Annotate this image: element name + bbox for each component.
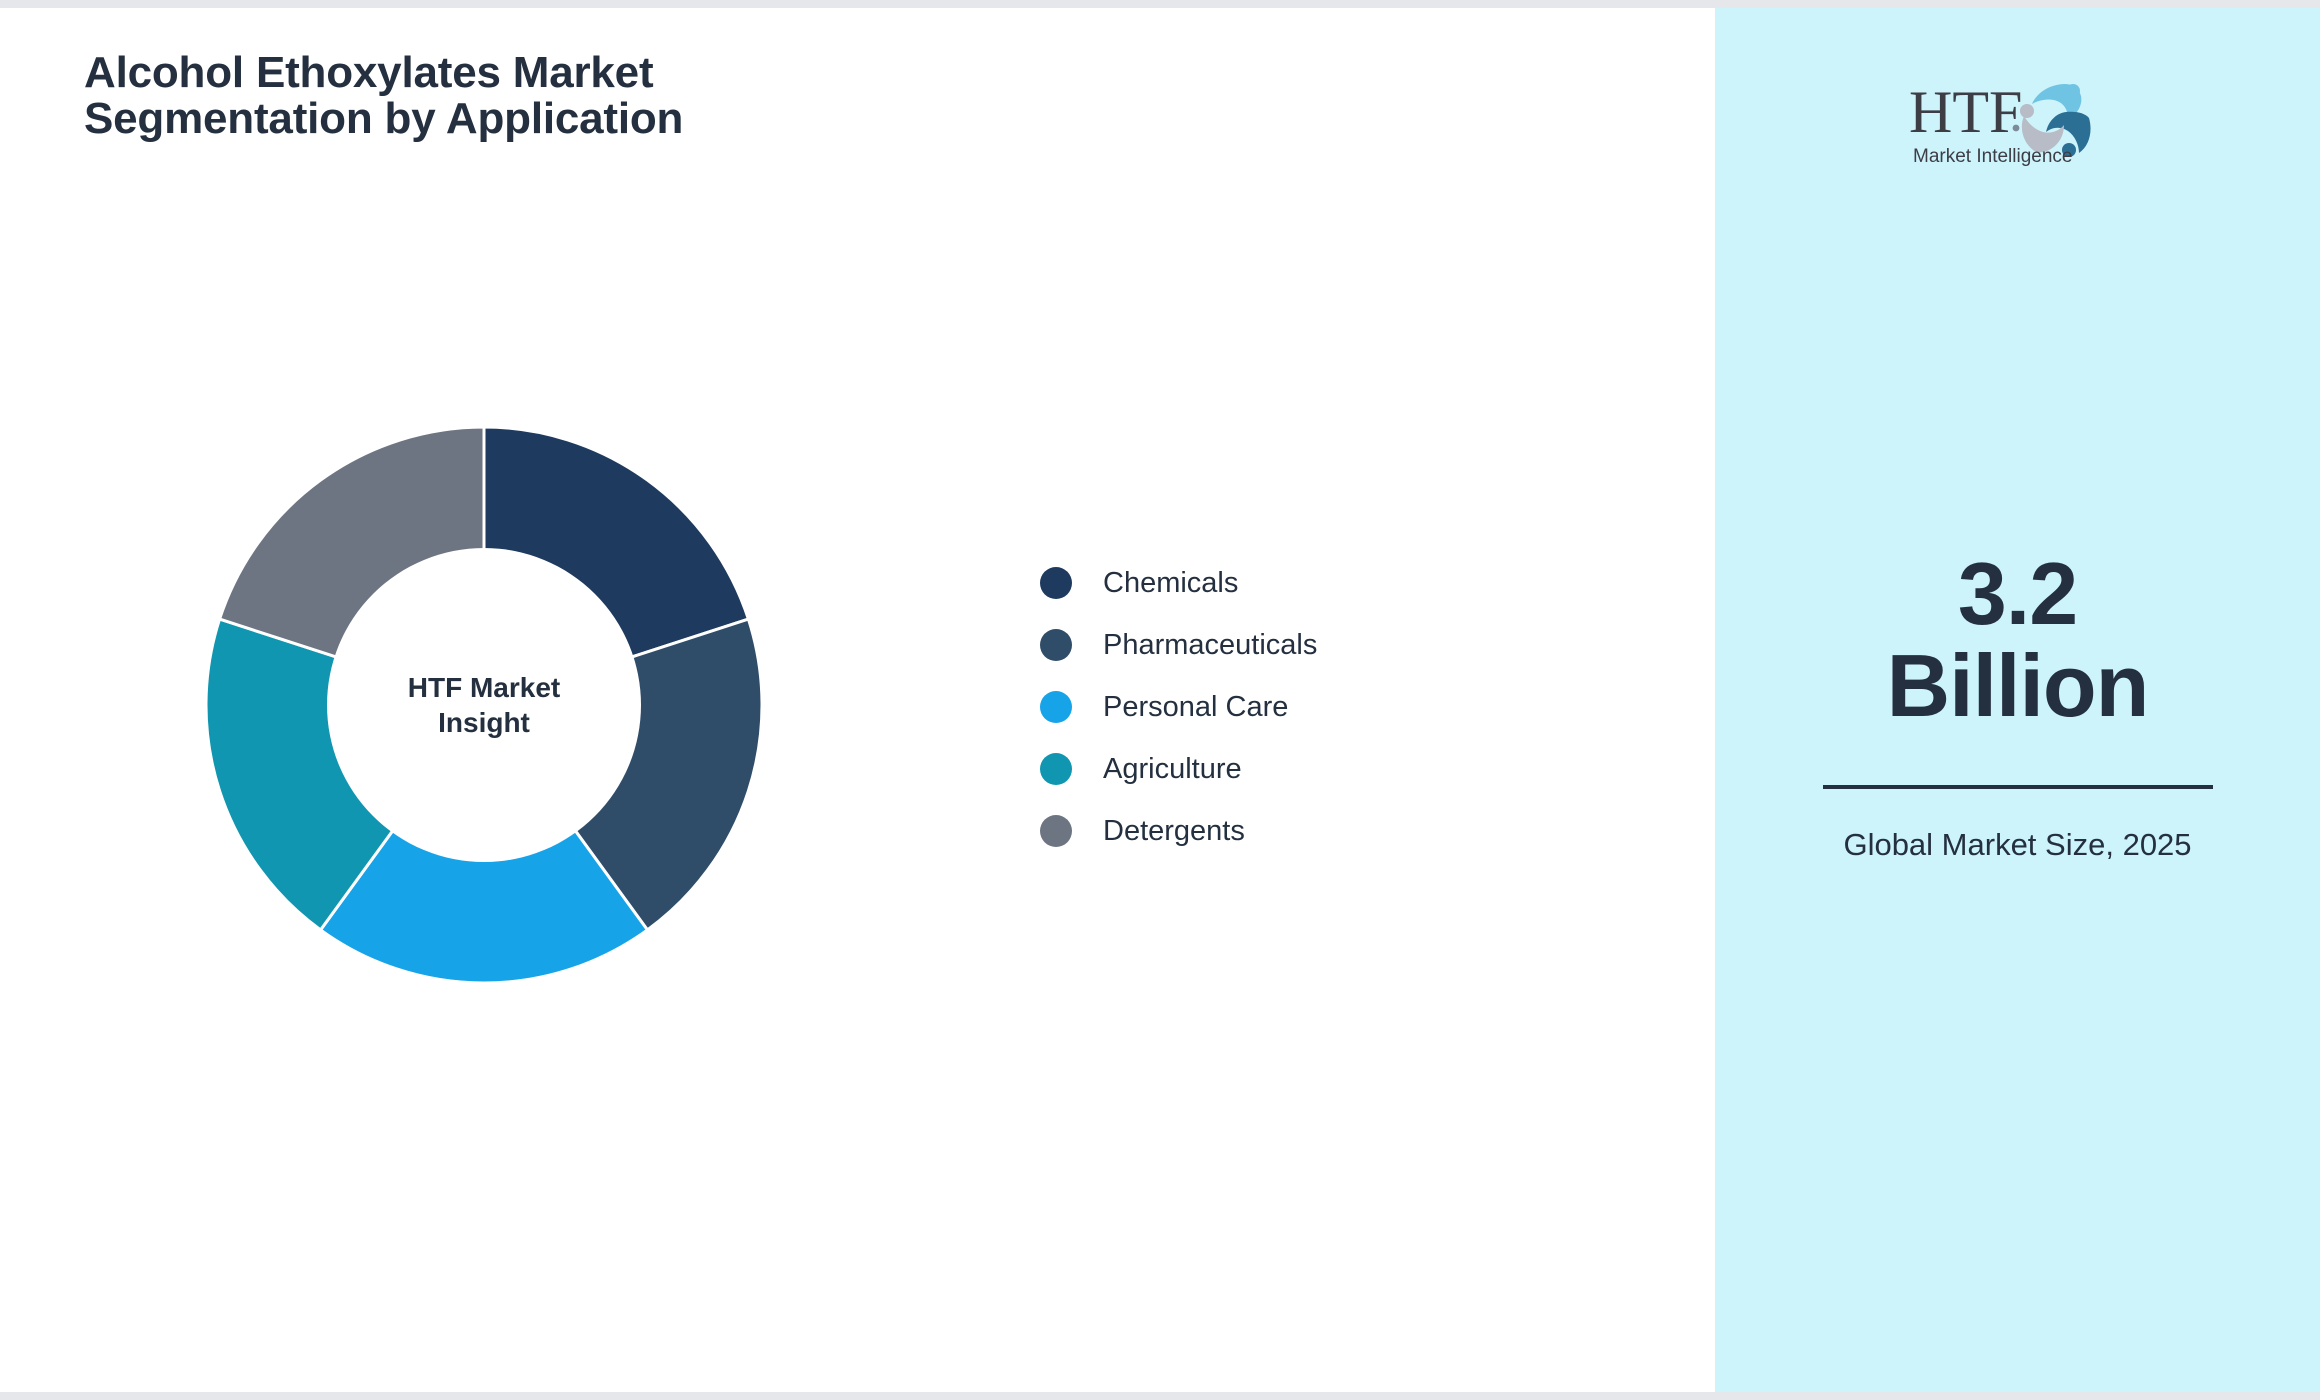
legend-item-label: Chemicals	[1103, 567, 1238, 600]
donut-chart: HTF Market Insight	[206, 427, 762, 983]
stat-value: 3.2 Billion	[1798, 548, 2238, 733]
stat-caption-line-2: 2025	[2123, 827, 2192, 862]
page-title-line-2: Segmentation by Application	[84, 96, 904, 142]
legend-item-label: Personal Care	[1103, 691, 1288, 724]
legend-item-agriculture[interactable]: Agriculture	[1040, 747, 1317, 791]
market-size-stat: 3.2 Billion Global Market Size, 2025	[1798, 548, 2238, 864]
htf-market-intelligence-logo[interactable]: HTF Market Intelligence	[1903, 70, 2133, 170]
infographic-card: Alcohol Ethoxylates Market Segmentation …	[0, 8, 2320, 1392]
legend-swatch-icon	[1040, 753, 1072, 785]
legend-swatch-icon	[1040, 629, 1072, 661]
stat-value-line-1: 3.2	[1798, 548, 2238, 640]
page-title: Alcohol Ethoxylates Market Segmentation …	[84, 50, 904, 142]
legend-item-label: Detergents	[1103, 815, 1245, 848]
stat-caption: Global Market Size, 2025	[1798, 825, 2238, 865]
stat-value-line-2: Billion	[1798, 640, 2238, 732]
chart-legend: Chemicals Pharmaceuticals Personal Care …	[1040, 561, 1317, 853]
legend-item-pharmaceuticals[interactable]: Pharmaceuticals	[1040, 623, 1317, 667]
legend-item-detergents[interactable]: Detergents	[1040, 809, 1317, 853]
legend-item-personal-care[interactable]: Personal Care	[1040, 685, 1317, 729]
legend-swatch-icon	[1040, 691, 1072, 723]
legend-item-label: Agriculture	[1103, 753, 1242, 786]
page-title-line-1: Alcohol Ethoxylates Market	[84, 50, 904, 96]
stat-divider	[1823, 785, 2213, 789]
chart-panel: Alcohol Ethoxylates Market Segmentation …	[0, 8, 1715, 1392]
legend-item-label: Pharmaceuticals	[1103, 629, 1317, 662]
logo-dot-icon	[2012, 125, 2019, 132]
donut-chart-svg	[206, 427, 762, 983]
stat-caption-line-1: Global Market Size,	[1843, 827, 2114, 862]
logo-tagline-text: Market Intelligence	[1913, 146, 2072, 167]
legend-swatch-icon	[1040, 567, 1072, 599]
legend-swatch-icon	[1040, 815, 1072, 847]
logo-svg: HTF Market Intelligence	[1903, 70, 2133, 170]
logo-wordmark-text: HTF	[1909, 79, 2022, 145]
stat-panel: HTF Market Intelligence	[1715, 8, 2320, 1392]
legend-item-chemicals[interactable]: Chemicals	[1040, 561, 1317, 605]
donut-hole	[327, 548, 641, 862]
